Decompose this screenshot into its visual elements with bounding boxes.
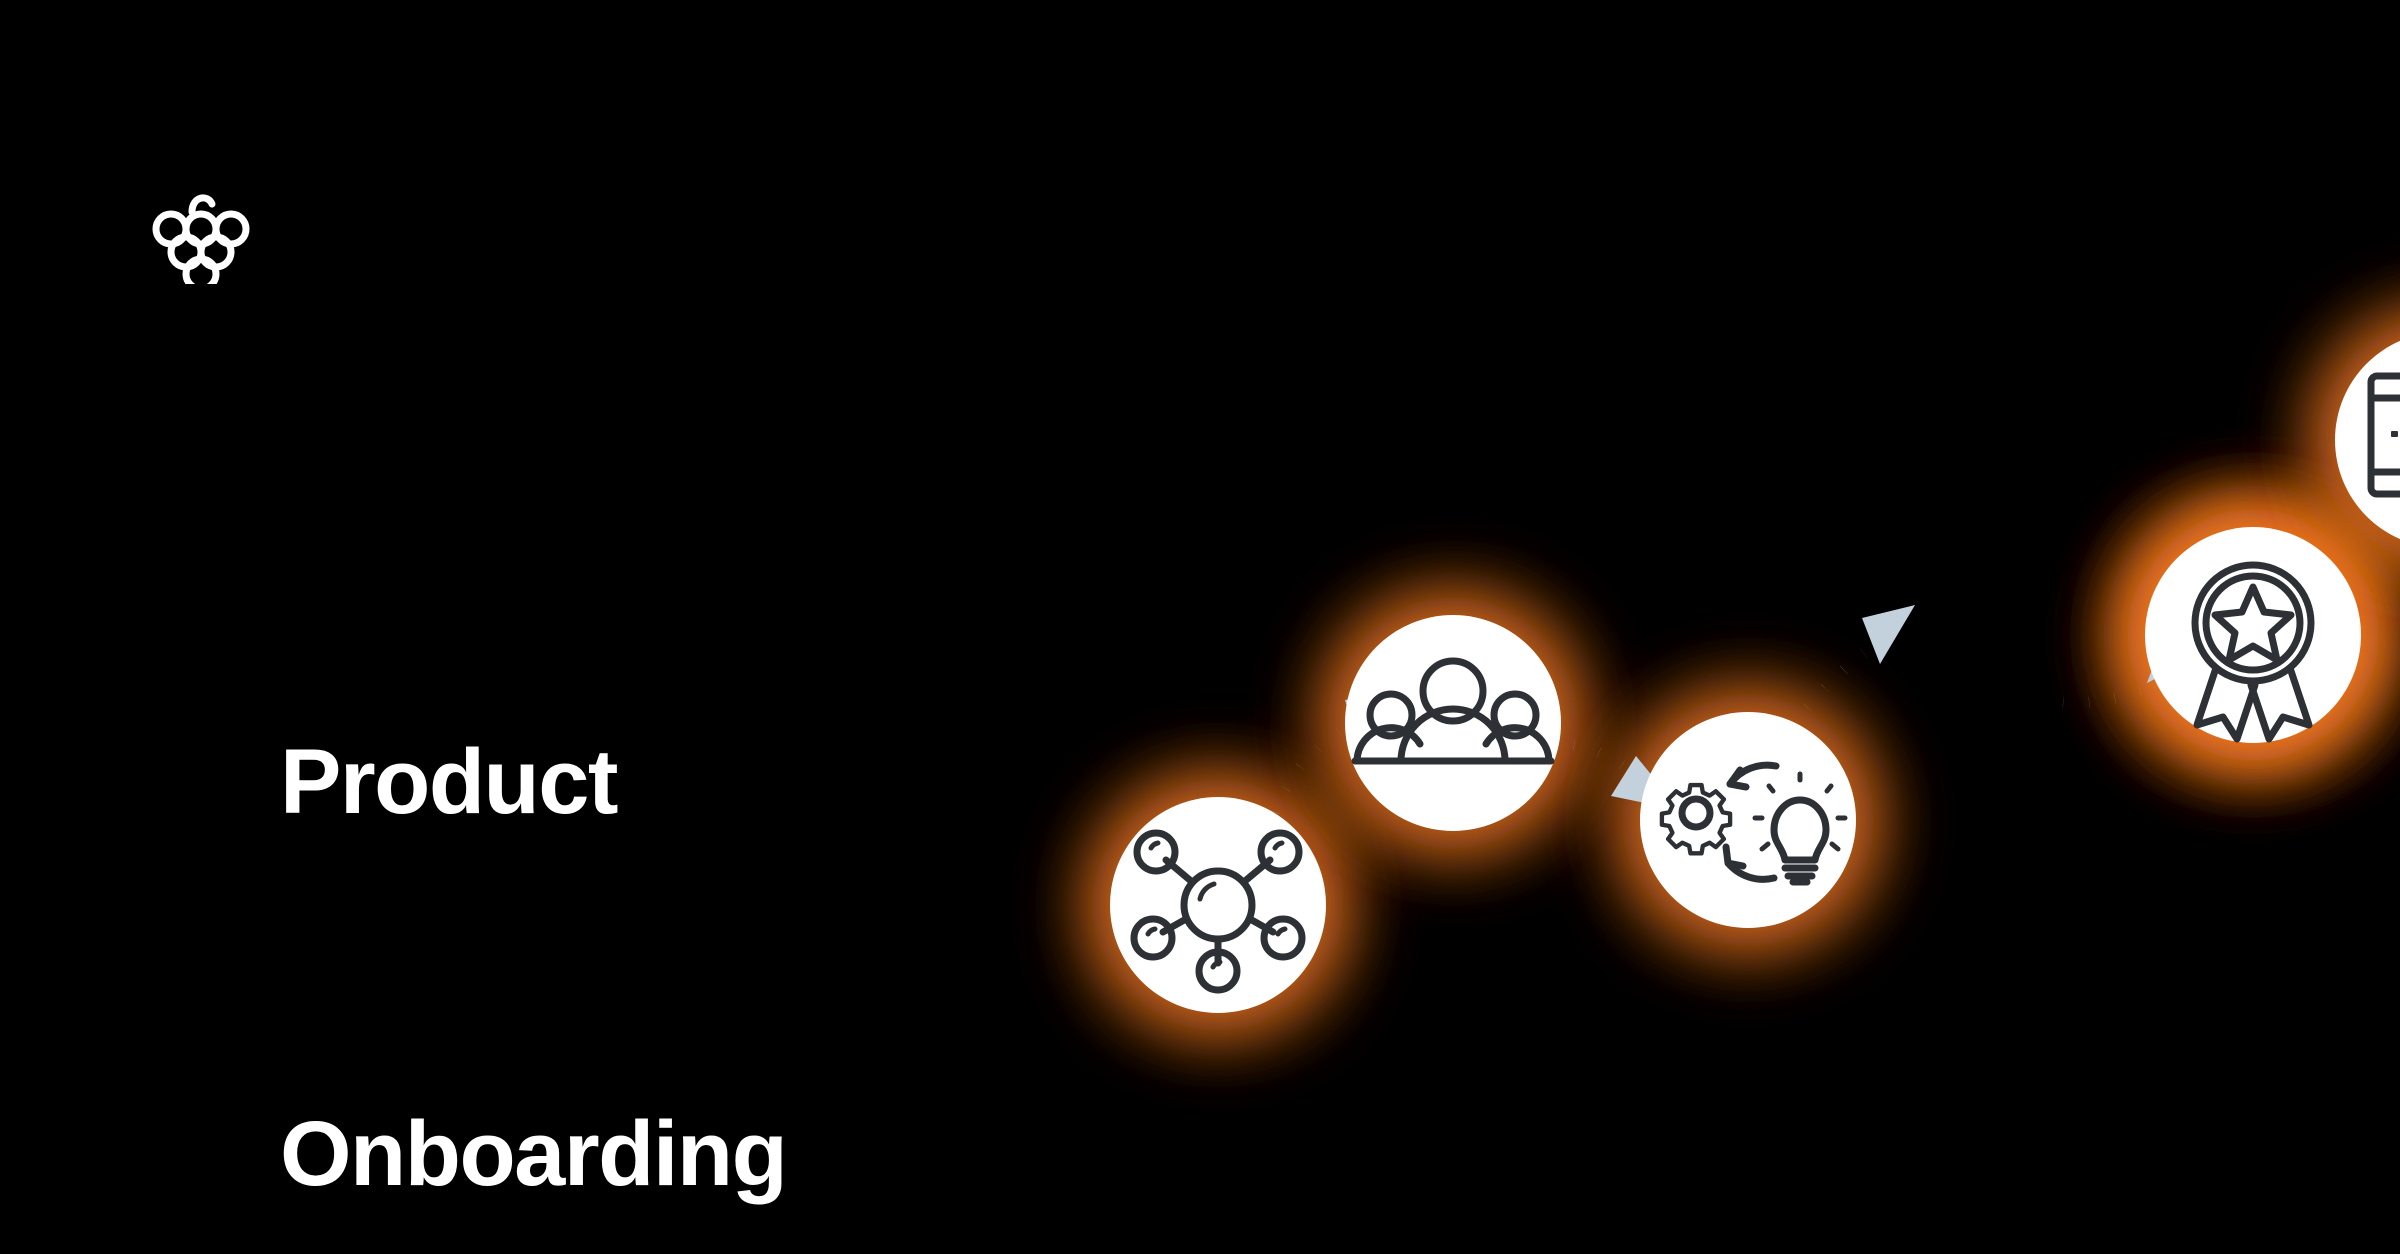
step-node-2[interactable] bbox=[1345, 615, 1561, 831]
step-node-1-circle[interactable] bbox=[1110, 797, 1326, 1013]
step-node-1[interactable] bbox=[1110, 797, 1326, 1013]
page-title: Product Onboarding Best Practice for New… bbox=[280, 472, 986, 1254]
step-node-4[interactable] bbox=[2145, 527, 2361, 743]
step-node-3[interactable] bbox=[1640, 712, 1856, 928]
process-flow-diagram bbox=[1060, 280, 2400, 1120]
headline-line-1: Product bbox=[280, 720, 986, 844]
connector-3-to-4 bbox=[1808, 605, 1915, 708]
grape-cluster-logo[interactable] bbox=[146, 186, 256, 284]
step-node-5[interactable] bbox=[2335, 332, 2400, 548]
banner-canvas: Product Onboarding Best Practice for New… bbox=[0, 0, 2400, 1254]
headline-line-2: Onboarding bbox=[280, 1092, 986, 1216]
step-node-4-circle[interactable] bbox=[2145, 527, 2361, 743]
